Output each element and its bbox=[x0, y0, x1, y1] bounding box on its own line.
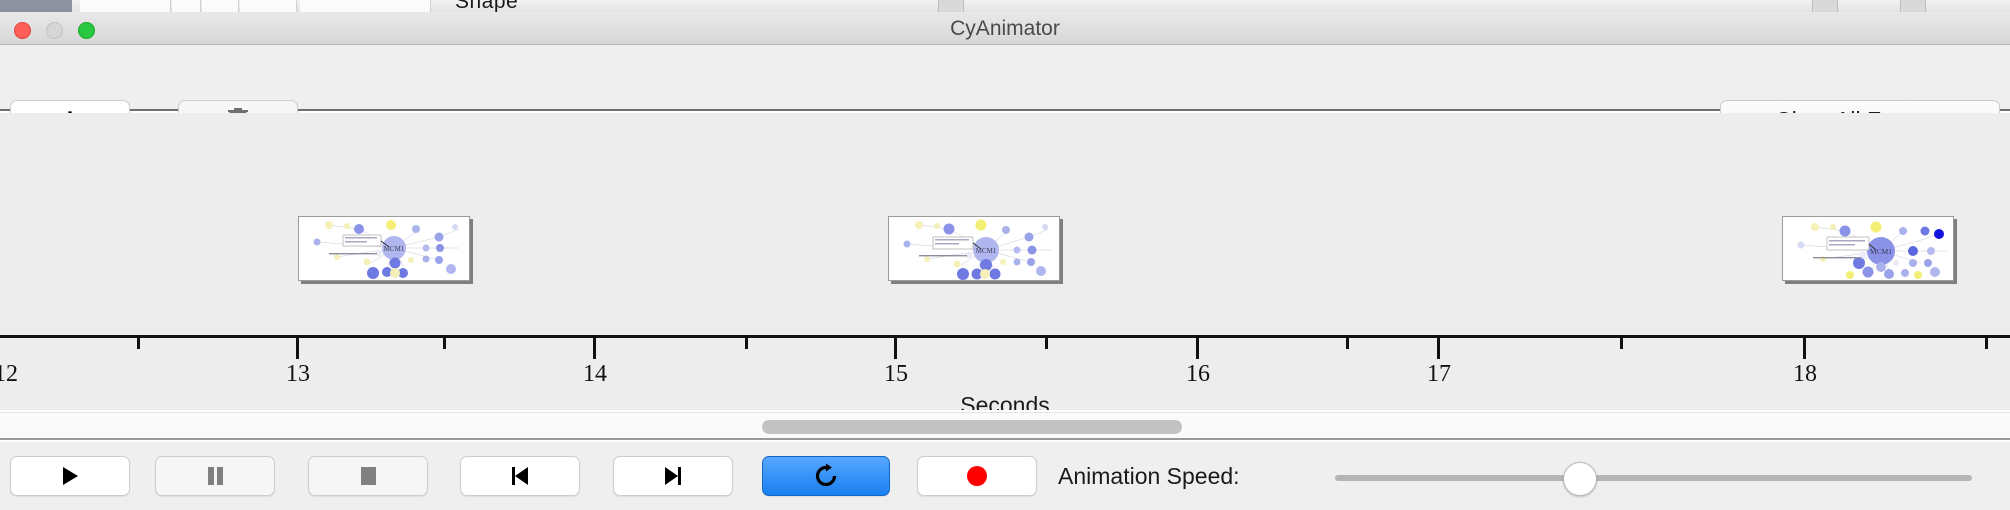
svg-text:MCM1: MCM1 bbox=[1870, 247, 1892, 256]
animation-speed-label: Animation Speed: bbox=[1058, 456, 1240, 496]
timeline-panel[interactable]: MCM1 bbox=[0, 113, 2010, 335]
axis-minor-tick bbox=[1620, 338, 1623, 349]
scrollbar-thumb[interactable] bbox=[762, 420, 1182, 434]
timeline-scrollbar[interactable] bbox=[0, 412, 2010, 440]
background-cell bbox=[172, 0, 201, 12]
page-title: CyAnimator bbox=[0, 12, 2010, 45]
svg-text:MCM1: MCM1 bbox=[976, 247, 997, 255]
axis-minor-tick bbox=[443, 338, 446, 349]
skip-forward-icon bbox=[661, 464, 685, 488]
skip-back-icon bbox=[508, 464, 532, 488]
timeline-axis[interactable]: 12 13 14 15 16 17 18 Seconds bbox=[0, 335, 2010, 410]
loop-button[interactable] bbox=[762, 456, 890, 496]
axis-minor-tick bbox=[1346, 338, 1349, 349]
background-cell bbox=[80, 0, 171, 12]
axis-tick-label: 16 bbox=[1186, 361, 1210, 388]
next-frame-button[interactable] bbox=[613, 456, 733, 496]
frame-thumbnail[interactable]: MCM1 bbox=[888, 216, 1060, 281]
background-cell bbox=[240, 0, 297, 12]
background-window-sliver: Shape bbox=[0, 0, 2010, 12]
axis-tick-label: 14 bbox=[583, 361, 607, 388]
stop-icon bbox=[356, 464, 380, 488]
pause-icon bbox=[203, 464, 227, 488]
background-cap bbox=[1900, 0, 1926, 12]
axis-major-tick bbox=[593, 338, 596, 359]
axis-tick-label: 12 bbox=[0, 361, 18, 388]
axis-minor-tick bbox=[1985, 338, 1988, 349]
axis-tick-label: 15 bbox=[884, 361, 908, 388]
play-button[interactable] bbox=[10, 456, 130, 496]
axis-minor-tick bbox=[137, 338, 140, 349]
background-window-tab bbox=[0, 0, 72, 12]
previous-frame-button[interactable] bbox=[460, 456, 580, 496]
axis-minor-tick bbox=[1045, 338, 1048, 349]
svg-text:MCM1: MCM1 bbox=[384, 245, 405, 253]
background-cap bbox=[1812, 0, 1838, 12]
stop-button[interactable] bbox=[308, 456, 428, 496]
axis-major-tick bbox=[1196, 338, 1199, 359]
background-window-label: Shape bbox=[455, 0, 518, 12]
animation-speed-slider[interactable] bbox=[1335, 475, 1972, 481]
axis-major-tick bbox=[296, 338, 299, 359]
slider-thumb[interactable] bbox=[1563, 462, 1597, 496]
background-cell bbox=[300, 0, 431, 12]
axis-title: Seconds bbox=[0, 392, 2010, 410]
background-cell bbox=[202, 0, 239, 12]
axis-major-tick bbox=[894, 338, 897, 359]
axis-major-tick bbox=[1803, 338, 1806, 359]
loop-icon bbox=[813, 463, 839, 489]
slider-track[interactable] bbox=[1335, 475, 1972, 481]
background-cap bbox=[938, 0, 964, 12]
axis-line bbox=[0, 335, 2010, 338]
pause-button[interactable] bbox=[155, 456, 275, 496]
frame-thumbnail[interactable]: MCM1 bbox=[298, 216, 470, 281]
axis-tick-label: 13 bbox=[286, 361, 310, 388]
title-bar: CyAnimator bbox=[0, 12, 2010, 45]
axis-tick-label: 17 bbox=[1427, 361, 1451, 388]
frame-thumbnail[interactable]: MCM1 bbox=[1782, 216, 1954, 281]
playback-toolbar: Animation Speed: bbox=[0, 442, 2010, 510]
axis-major-tick bbox=[1437, 338, 1440, 359]
toolbar: + Clear All Frames bbox=[0, 45, 2010, 111]
axis-tick-label: 18 bbox=[1793, 361, 1817, 388]
axis-minor-tick bbox=[745, 338, 748, 349]
record-button[interactable] bbox=[917, 456, 1037, 496]
play-icon bbox=[58, 464, 82, 488]
record-icon bbox=[965, 464, 989, 488]
